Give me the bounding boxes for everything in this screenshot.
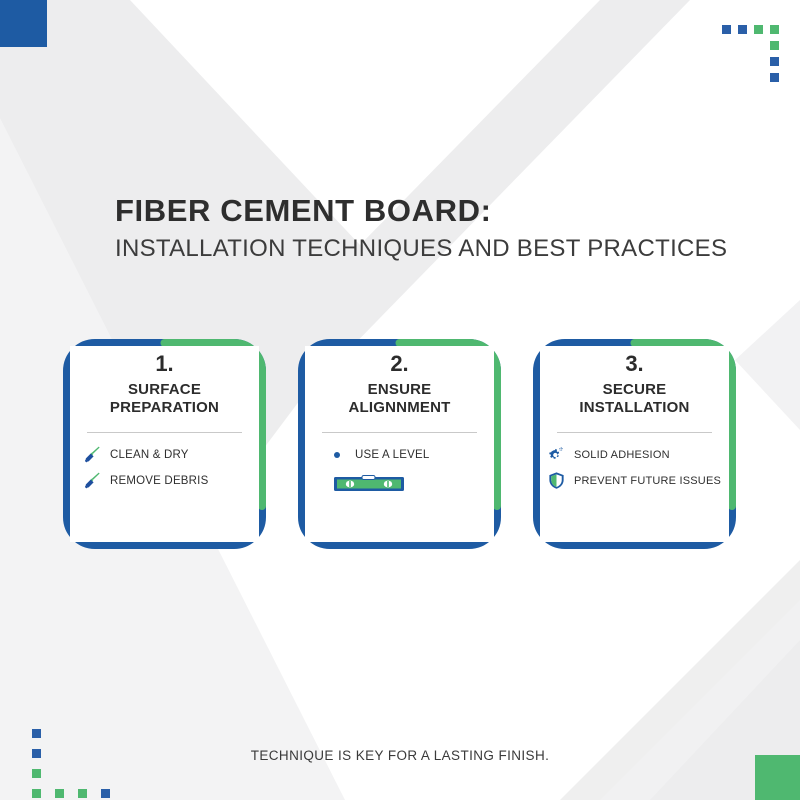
card-divider	[322, 432, 477, 433]
card-number: 3.	[625, 352, 643, 376]
card-bullet-list: CLEAN & DRY REMOVE DEBRIS	[70, 445, 259, 491]
decorative-dot	[722, 25, 731, 34]
list-item-label: SOLID ADHESION	[574, 449, 670, 461]
decorative-dot	[770, 73, 779, 82]
heading-block: FIBER CEMENT BOARD: INSTALLATION TECHNIQ…	[115, 193, 727, 262]
card-content: 1. SURFACE PREPARATION CLE	[70, 346, 259, 542]
list-item-label: USE A LEVEL	[355, 449, 429, 461]
card-title: ENSURE ALIGNNMENT	[349, 381, 451, 418]
step-card-3[interactable]: 3. SECURE INSTALLATION	[532, 338, 737, 550]
list-item-label: REMOVE DEBRIS	[110, 475, 208, 487]
decorative-dot	[32, 769, 41, 778]
decorative-dot	[738, 25, 747, 34]
page-subtitle: INSTALLATION TECHNIQUES AND BEST PRACTIC…	[115, 235, 727, 263]
list-item[interactable]: CLEAN & DRY	[82, 445, 247, 465]
decorative-dot	[770, 41, 779, 50]
decorative-dot	[55, 789, 64, 798]
spirit-level-icon	[315, 473, 405, 498]
card-content: 2. ENSURE ALIGNNMENT USE A LEVEL	[305, 346, 494, 542]
card-title: SURFACE PREPARATION	[110, 381, 219, 418]
card-divider	[87, 432, 242, 433]
card-number: 2.	[390, 352, 408, 376]
card-bullet-list: SOLID ADHESION PREVENT FUTURE ISSUES	[540, 445, 729, 491]
card-bullet-list: USE A LEVEL	[305, 445, 494, 465]
decorative-dot	[32, 789, 41, 798]
shield-icon	[546, 471, 566, 491]
decorative-dot	[101, 789, 110, 798]
paint-brush-icon	[82, 471, 102, 491]
card-title: SECURE INSTALLATION	[579, 381, 689, 418]
step-card-2[interactable]: 2. ENSURE ALIGNNMENT USE A LEVEL	[297, 338, 502, 550]
decorative-dot	[754, 25, 763, 34]
decorative-dot	[78, 789, 87, 798]
gears-icon	[546, 445, 566, 465]
list-item[interactable]: SOLID ADHESION	[546, 445, 723, 465]
card-number: 1.	[155, 352, 173, 376]
list-item[interactable]: PREVENT FUTURE ISSUES	[546, 471, 723, 491]
decorative-dot	[770, 57, 779, 66]
list-item-label: PREVENT FUTURE ISSUES	[574, 475, 721, 487]
list-item[interactable]: REMOVE DEBRIS	[82, 471, 247, 491]
infographic-poster: FIBER CEMENT BOARD: INSTALLATION TECHNIQ…	[0, 0, 800, 800]
page-title: FIBER CEMENT BOARD:	[115, 193, 727, 229]
paint-brush-icon	[82, 445, 102, 465]
footer-tagline: TECHNIQUE IS KEY FOR A LASTING FINISH.	[0, 748, 800, 763]
decorative-dot	[770, 25, 779, 34]
bullet-dot-icon	[327, 445, 347, 465]
steps-card-row: 1. SURFACE PREPARATION CLE	[62, 338, 738, 550]
decorative-dot	[32, 729, 41, 738]
step-card-1[interactable]: 1. SURFACE PREPARATION CLE	[62, 338, 267, 550]
card-divider	[557, 432, 712, 433]
list-item[interactable]: USE A LEVEL	[327, 445, 482, 465]
corner-accent-square-top-left	[0, 0, 47, 47]
card-content: 3. SECURE INSTALLATION	[540, 346, 729, 542]
list-item-label: CLEAN & DRY	[110, 449, 189, 461]
